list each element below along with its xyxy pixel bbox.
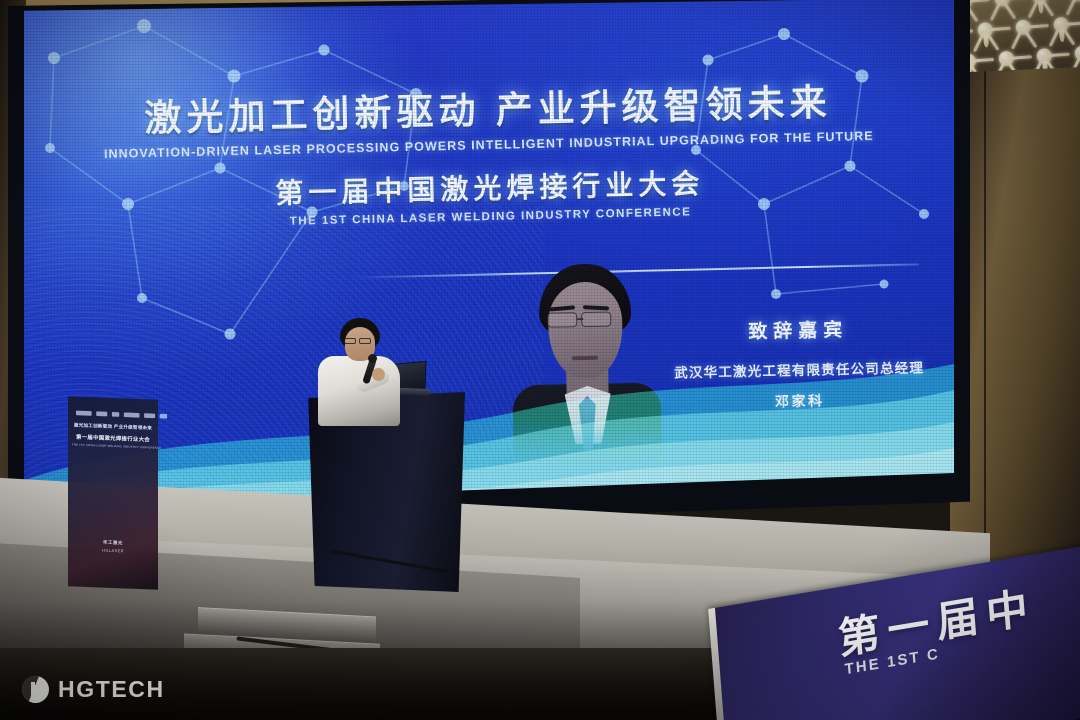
led-screen: 激光加工创新驱动 产业升级智领未来 INNOVATION-DRIVEN LASE… xyxy=(24,0,954,506)
speaker-person xyxy=(312,318,404,428)
conference-photo-scene: 激光加工创新驱动 产业升级智领未来 INNOVATION-DRIVEN LASE… xyxy=(0,0,1080,720)
podium-line1: 激光加工创新驱动 产业升级智领未来 xyxy=(72,422,154,431)
hgtech-logo: HGTECH xyxy=(22,676,165,703)
screen-headline: 激光加工创新驱动 产业升级智领未来 INNOVATION-DRIVEN LASE… xyxy=(24,69,954,234)
hgtech-logo-text: HGTECH xyxy=(58,676,165,703)
podium-footer-line2: HGLASER xyxy=(68,546,158,554)
podium-sponsor-logos xyxy=(76,411,167,419)
podium-title-block: 激光加工创新驱动 产业升级智领未来 第一届中国激光焊接行业大会 THE 1ST … xyxy=(72,422,154,449)
podium-branding-panel: 激光加工创新驱动 产业升级智领未来 第一届中国激光焊接行业大会 THE 1ST … xyxy=(68,396,158,589)
podium-footer-block: 华工激光 HGLASER xyxy=(68,538,158,554)
hgtech-mark-icon xyxy=(22,676,49,703)
